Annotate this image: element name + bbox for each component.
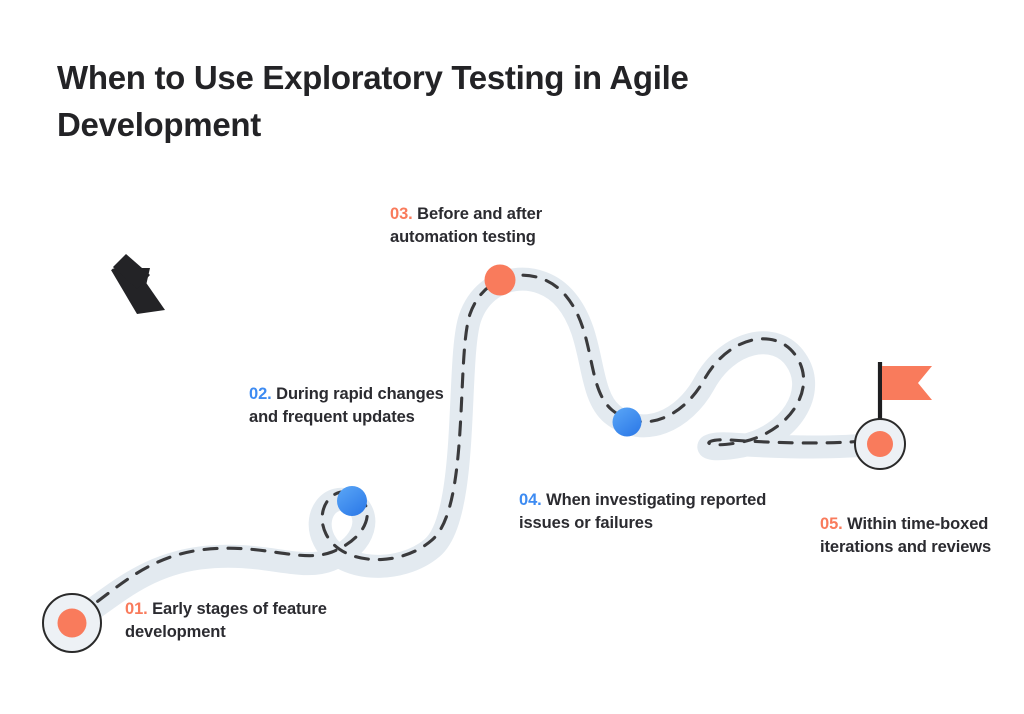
- step-label-01: 01. Early stages of feature development: [125, 598, 375, 645]
- step-text-05: Within time-boxed iterations and reviews: [820, 515, 991, 556]
- step-text-03: Before and after automation testing: [390, 205, 542, 246]
- step-text-02: During rapid changes and frequent update…: [249, 385, 444, 426]
- step-text-01: Early stages of feature development: [125, 600, 327, 641]
- step-marker-02[interactable]: [337, 486, 367, 516]
- infographic-canvas: When to Use Exploratory Testing in Agile…: [0, 0, 1024, 714]
- step-number-01: 01.: [125, 600, 148, 618]
- step-marker-04[interactable]: [613, 408, 642, 437]
- step-number-05: 05.: [820, 515, 843, 533]
- step-number-02: 02.: [249, 385, 272, 403]
- step-marker-01[interactable]: [43, 594, 101, 652]
- step-label-04: 04. When investigating reported issues o…: [519, 489, 774, 536]
- step-label-05: 05. Within time-boxed iterations and rev…: [820, 513, 1010, 560]
- step-label-03: 03. Before and after automation testing: [390, 203, 620, 250]
- step-marker-03[interactable]: [485, 265, 516, 296]
- step-text-04: When investigating reported issues or fa…: [519, 491, 766, 532]
- step-marker-05[interactable]: [855, 419, 905, 469]
- arrow-cursor-icon: [111, 254, 165, 314]
- road-band: [72, 279, 878, 623]
- step-label-02: 02. During rapid changes and frequent up…: [249, 383, 459, 430]
- step-number-03: 03.: [390, 205, 413, 223]
- step-number-04: 04.: [519, 491, 542, 509]
